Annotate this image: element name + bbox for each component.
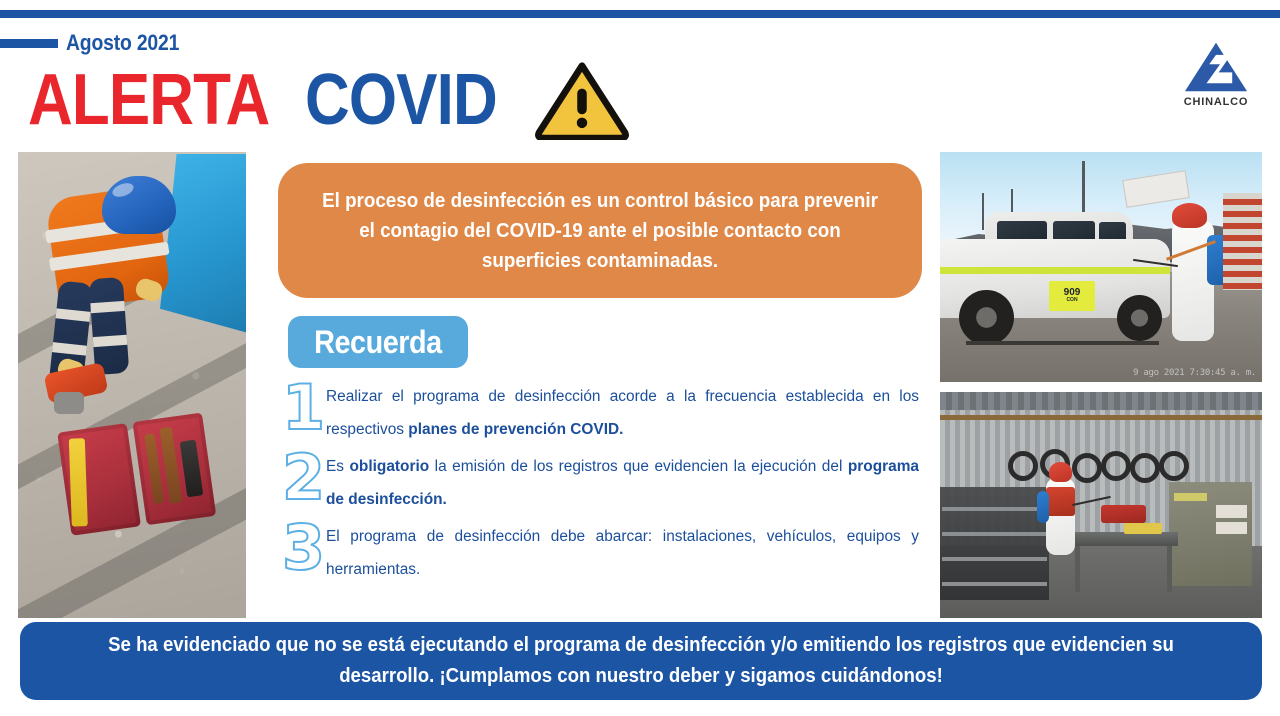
workshop-table xyxy=(1069,532,1178,546)
bottom-banner-text: Se ha evidenciado que no se está ejecuta… xyxy=(63,630,1218,692)
date-dash-marker xyxy=(0,39,58,48)
list-text-3: El programa de desinfección debe abarcar… xyxy=(326,518,919,586)
title-covid: COVID xyxy=(305,67,497,133)
recuerda-badge: Recuerda xyxy=(288,316,468,368)
worker-helmet xyxy=(102,176,176,234)
date-row: Agosto 2021 xyxy=(0,30,195,56)
list-number-3: 3 xyxy=(282,512,326,586)
red-toolbox xyxy=(57,412,219,540)
list-number-1: 1 xyxy=(282,372,326,446)
list-number-2: 2 xyxy=(282,442,326,516)
list-text-2: Es obligatorio la emisión de los registr… xyxy=(326,448,919,516)
photo-timestamp: 9 ago 2021 7:30:45 a. m. xyxy=(1133,368,1256,378)
recommendations-list: 1 Realizar el programa de desinfección a… xyxy=(282,378,922,588)
workshop-cabinet xyxy=(1169,482,1253,586)
photo-workshop-disinfection xyxy=(940,392,1262,618)
list-item: 3 El programa de desinfección debe abarc… xyxy=(282,518,922,586)
warning-triangle-icon xyxy=(534,60,630,140)
vehicle-placard: 909 CON xyxy=(1049,281,1094,311)
list-text-1: Realizar el programa de desinfección aco… xyxy=(326,378,919,446)
title-alerta: ALERTA xyxy=(28,67,269,133)
chinalco-triangle-icon xyxy=(1182,40,1250,94)
vehicle-placard-sub: CON xyxy=(1066,298,1077,303)
chinalco-logo-text: CHINALCO xyxy=(1184,96,1248,108)
workshop-shelf xyxy=(940,487,1049,600)
list-item: 2 Es obligatorio la emisión de los regis… xyxy=(282,448,922,516)
date-label: Agosto 2021 xyxy=(66,30,179,56)
photo-truck-disinfection: 909 CON 9 ago 2021 7:30:45 a. m. xyxy=(940,152,1262,382)
chinalco-logo: CHINALCO xyxy=(1170,40,1262,118)
recuerda-label: Recuerda xyxy=(314,324,442,361)
photo-worker-toolbox xyxy=(18,152,246,618)
list-item: 1 Realizar el programa de desinfección a… xyxy=(282,378,922,446)
page-title: ALERTA COVID xyxy=(28,60,630,140)
top-rule-divider xyxy=(0,10,1280,18)
bottom-banner: Se ha evidenciado que no se está ejecuta… xyxy=(20,622,1262,700)
callout-banner: El proceso de desinfección es un control… xyxy=(278,163,922,298)
callout-text: El proceso de desinfección es un control… xyxy=(297,186,902,276)
